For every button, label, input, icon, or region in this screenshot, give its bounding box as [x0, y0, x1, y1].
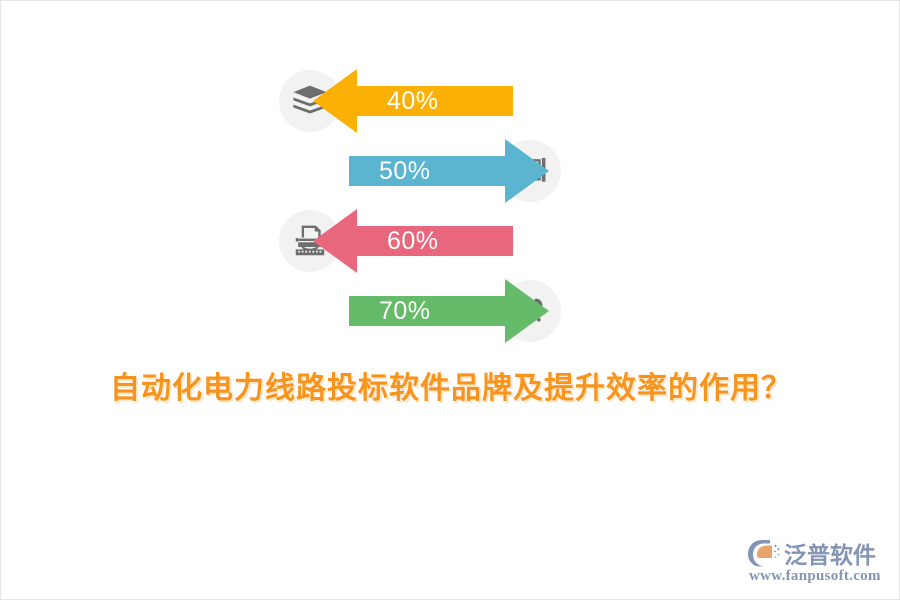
- arrow-infographic: 40% 50%: [271, 61, 591, 371]
- page-title: 自动化电力线路投标软件品牌及提升效率的作用？: [1, 363, 900, 407]
- arrow-label: 40%: [387, 69, 439, 133]
- arrow-70: 70%: [349, 279, 549, 343]
- infographic-row: 50%: [271, 131, 591, 203]
- arrow-label: 70%: [379, 279, 431, 343]
- logo-name: 泛普软件: [784, 536, 876, 570]
- infographic-row: 40%: [271, 61, 591, 133]
- arrow-50: 50%: [349, 139, 549, 203]
- arrow-label: 50%: [379, 139, 431, 203]
- arrow-60: 60%: [313, 209, 513, 273]
- arrow-40: 40%: [313, 69, 513, 133]
- fanpu-logo-icon: [747, 538, 781, 568]
- brand-logo: 泛普软件 www.fanpusoft.com: [747, 537, 887, 587]
- infographic-row: 70%: [271, 271, 591, 343]
- arrow-label: 60%: [387, 209, 439, 273]
- logo-url: www.fanpusoft.com: [749, 568, 881, 585]
- logo-row: 泛普软件: [747, 537, 876, 569]
- infographic-row: 60%: [271, 201, 591, 273]
- page-canvas: 40% 50%: [0, 0, 900, 600]
